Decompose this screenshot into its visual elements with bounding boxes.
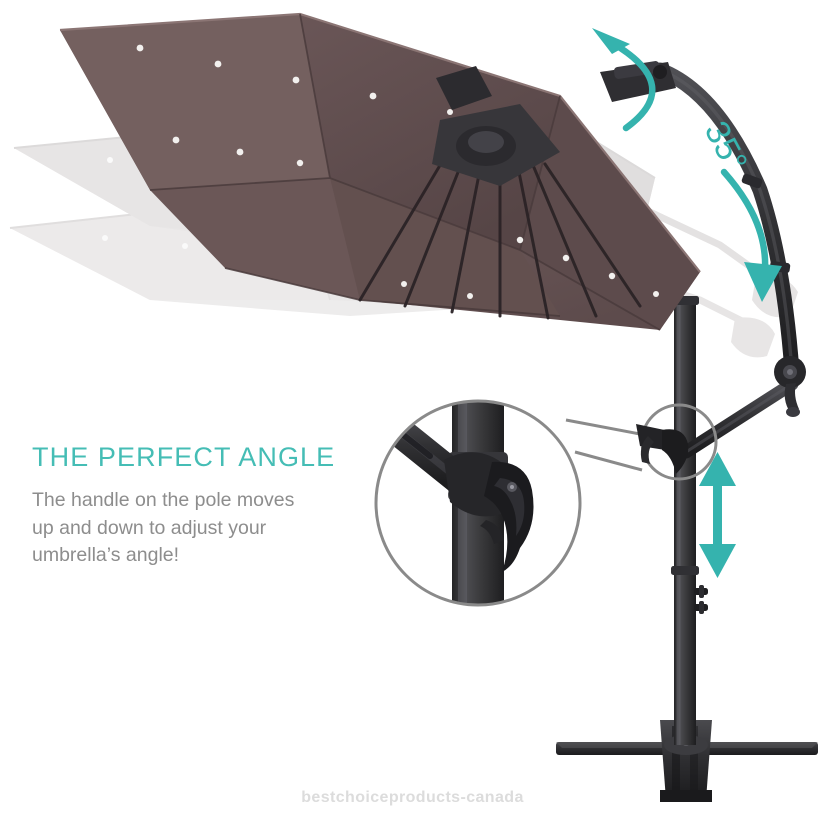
handle-magnifier-circle <box>355 393 580 610</box>
description-line-3: umbrella’s angle! <box>32 544 179 566</box>
feature-description: The handle on the pole moves up and down… <box>32 487 377 570</box>
page-title: THE PERFECT ANGLE <box>32 442 377 473</box>
watermark: bestchoiceproducts-canada <box>0 789 825 807</box>
pole-adjust-knobs <box>694 585 708 614</box>
description-line-2: up and down to adjust your <box>32 517 266 539</box>
feature-text-block: THE PERFECT ANGLE The handle on the pole… <box>32 442 377 570</box>
product-feature-image: 35° <box>0 0 825 825</box>
description-line-1: The handle on the pole moves <box>32 489 294 511</box>
cantilever-lower-strut <box>686 384 792 452</box>
umbrella-pole <box>671 296 708 745</box>
canopy-mount-bracket <box>600 60 676 102</box>
height-adjust-arrow <box>699 452 736 578</box>
magnifier-connector-line <box>566 420 642 470</box>
umbrella-illustration: 35° <box>0 0 825 825</box>
